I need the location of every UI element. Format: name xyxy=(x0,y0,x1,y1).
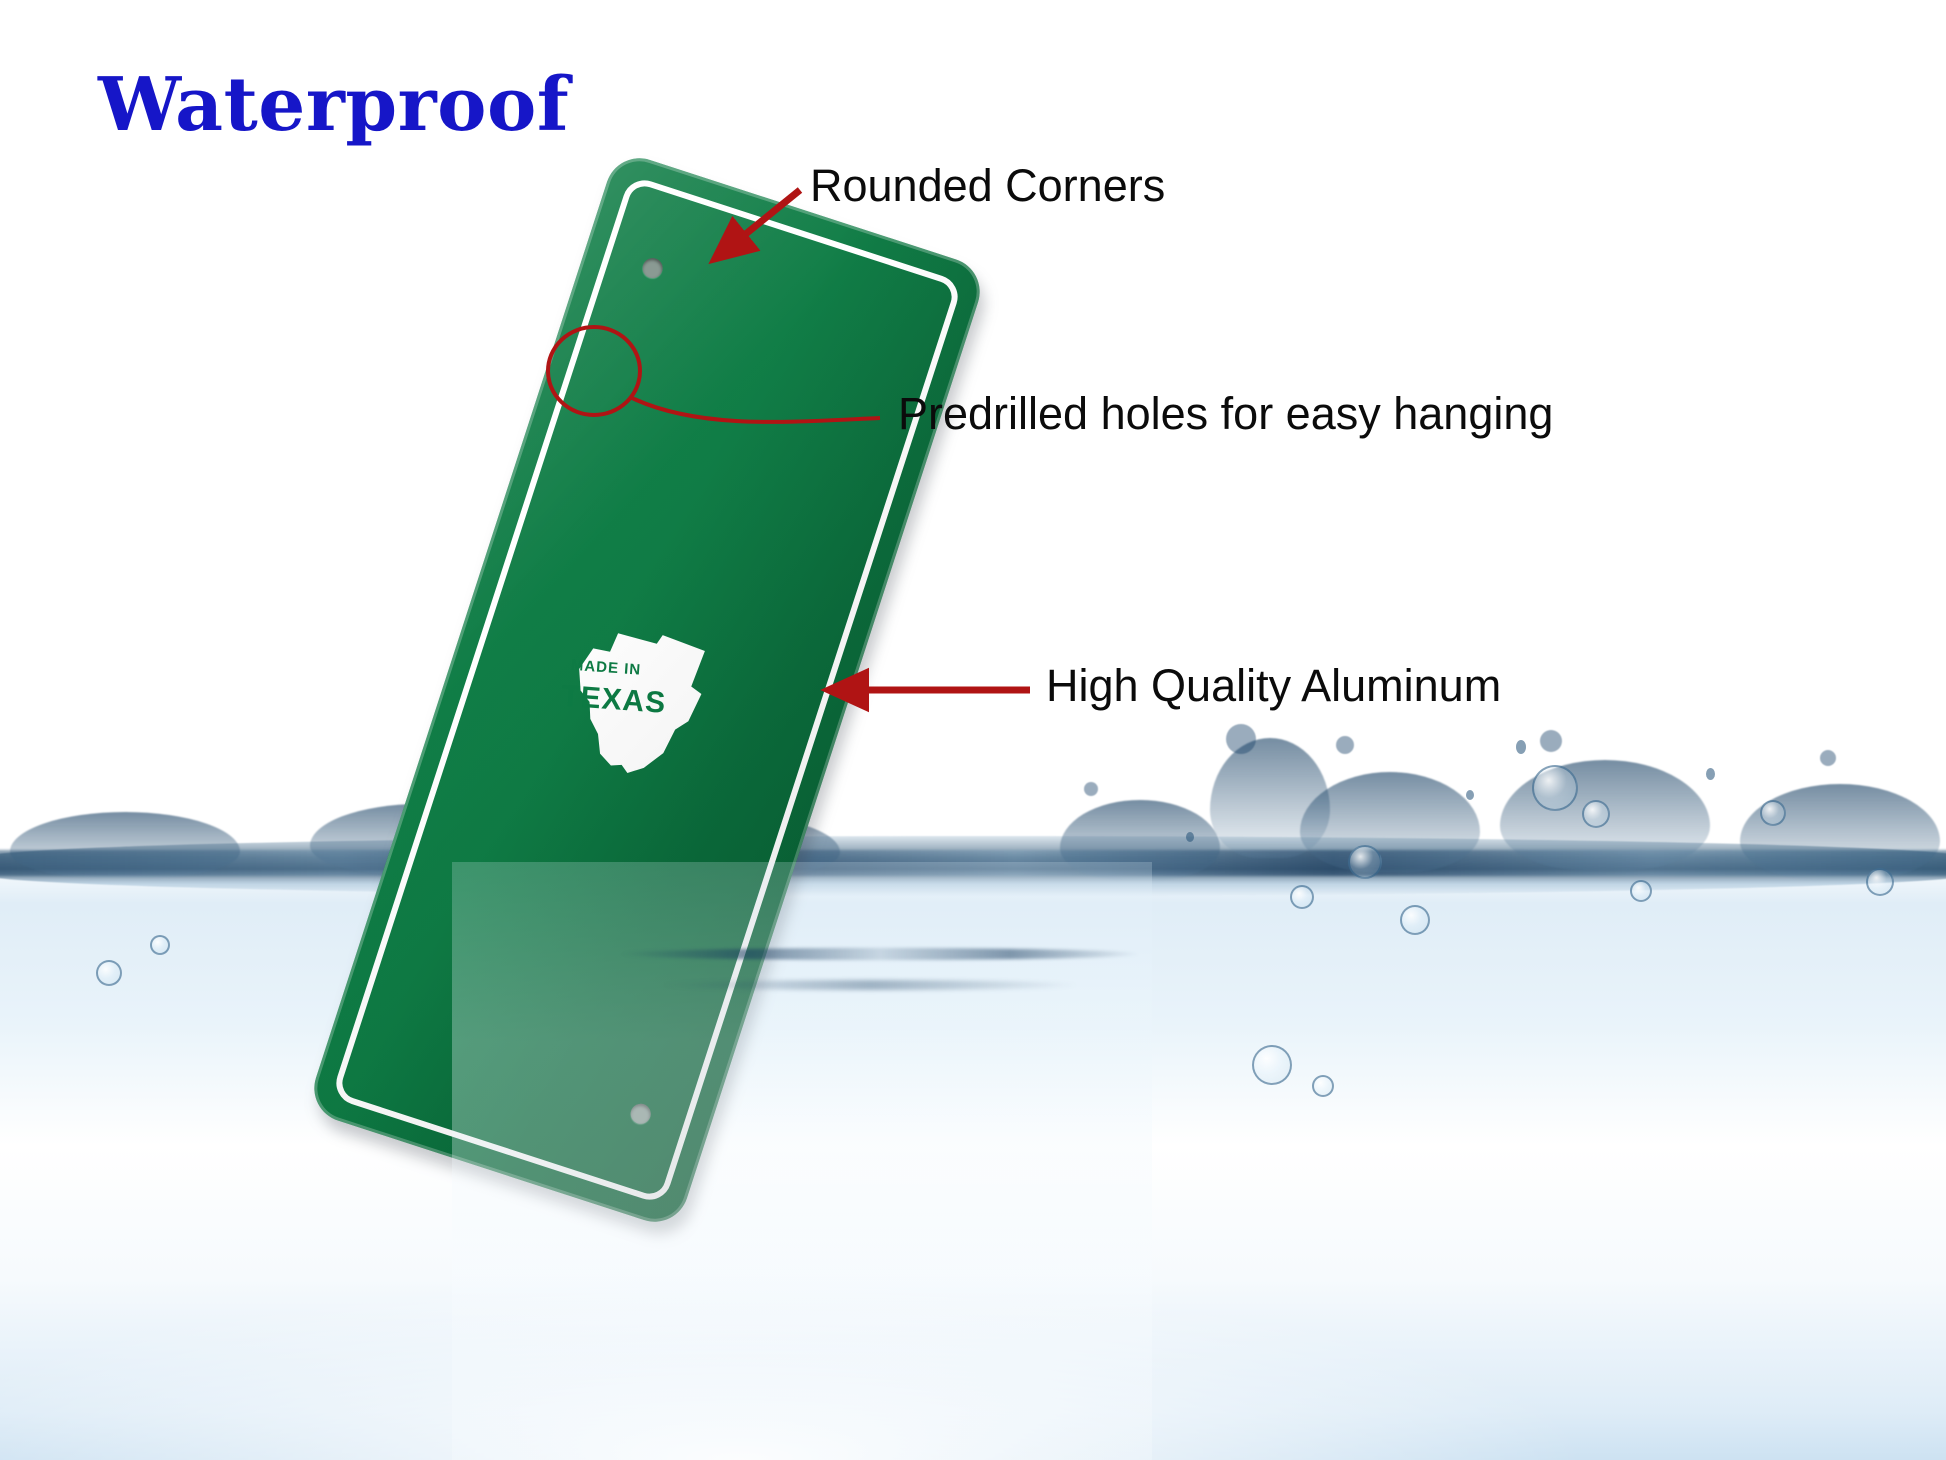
water-bubble xyxy=(96,960,122,986)
water-bubble xyxy=(1760,800,1786,826)
water-bubble xyxy=(1532,765,1578,811)
water-bubble xyxy=(1630,880,1652,902)
water-splash xyxy=(1820,750,1836,766)
water-bubble xyxy=(1866,868,1894,896)
water-bubble xyxy=(1400,905,1430,935)
water-bubble xyxy=(1290,885,1314,909)
water-bubble xyxy=(150,935,170,955)
water-splash xyxy=(1336,736,1354,754)
water-bubble xyxy=(1252,1045,1292,1085)
callout-label-rounded-corners: Rounded Corners xyxy=(810,160,1165,212)
callout-label-predrilled-holes: Predrilled holes for easy hanging xyxy=(898,388,1553,440)
callout-label-high-quality-aluminum: High Quality Aluminum xyxy=(1046,660,1501,712)
water-bubble xyxy=(1582,800,1610,828)
water-crest xyxy=(10,812,240,878)
water-crest xyxy=(1740,784,1940,880)
water-splash xyxy=(1084,782,1098,796)
page-title: Waterproof xyxy=(98,62,569,148)
water-crest xyxy=(1060,800,1220,880)
infographic-canvas: MADE IN TEXAS Waterproof Rounded Corners… xyxy=(0,0,1946,1460)
water-splash xyxy=(1226,724,1256,754)
water-surface-line xyxy=(0,790,1946,970)
water-splash xyxy=(1540,730,1562,752)
water-droplet xyxy=(1186,832,1194,842)
water-droplet xyxy=(1706,768,1715,780)
water-bubble xyxy=(1312,1075,1334,1097)
badge-line2: TEXAS xyxy=(560,680,667,721)
water-droplet xyxy=(1516,740,1526,754)
water-bubble xyxy=(1348,845,1382,879)
water-droplet xyxy=(1466,790,1474,800)
